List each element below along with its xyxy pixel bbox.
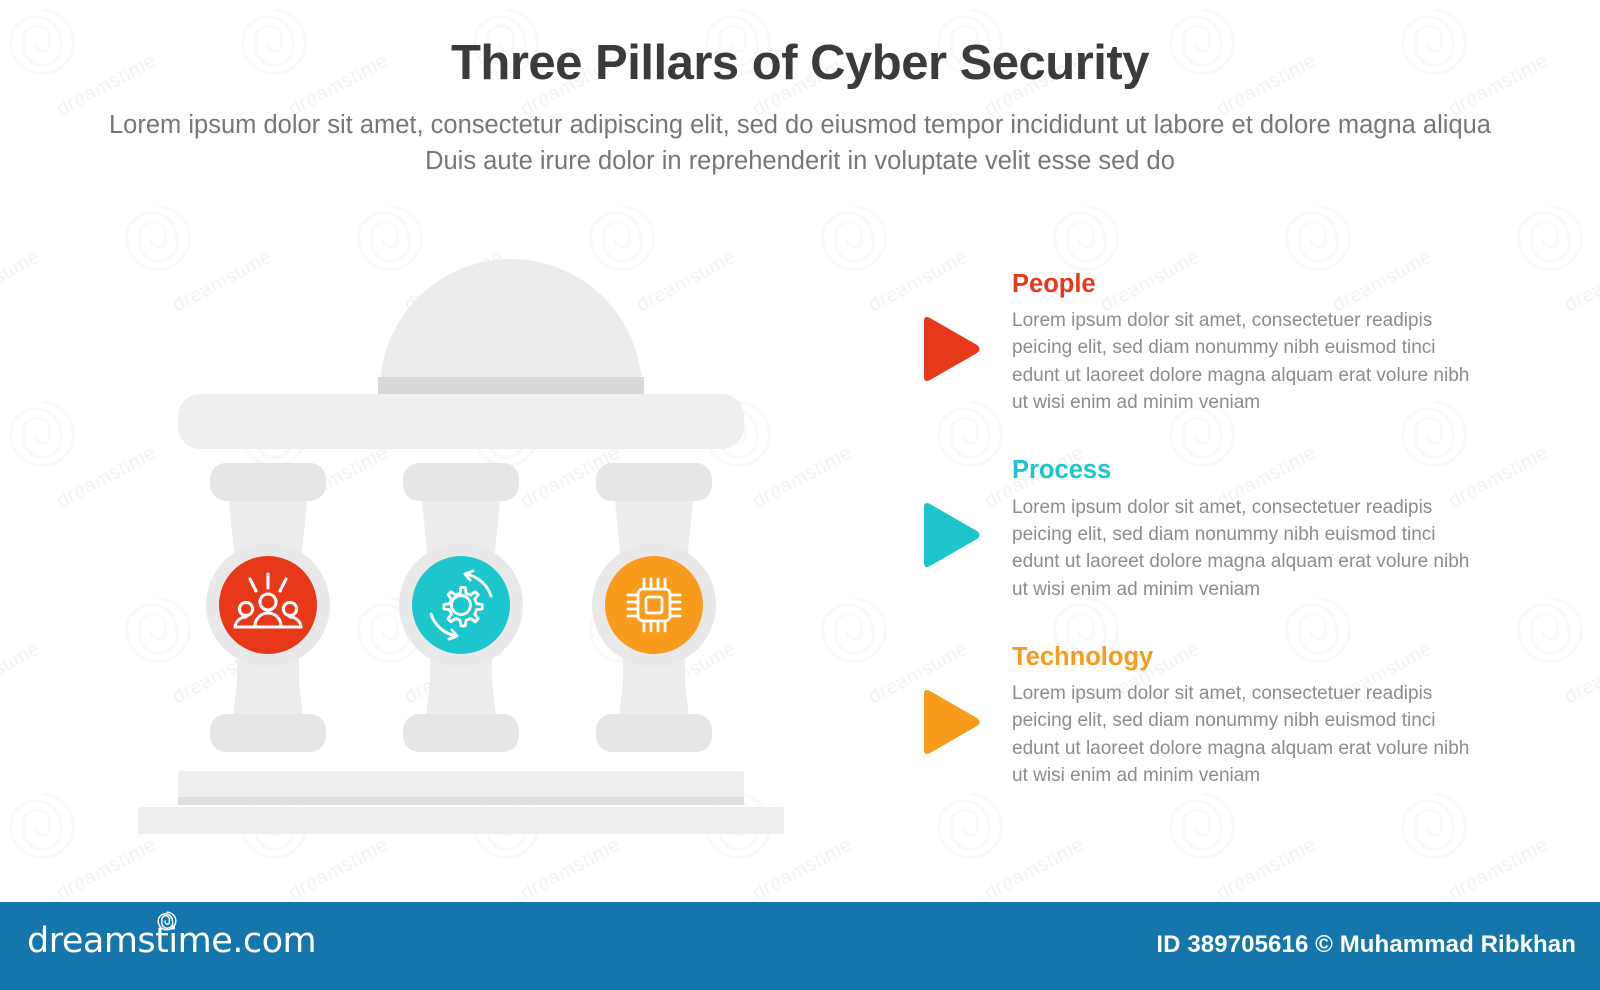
watermark-text: dreamstime xyxy=(285,834,392,906)
icon-disc-technology xyxy=(605,556,703,654)
watermark-spiral-icon xyxy=(928,784,1012,868)
watermark-spiral-icon xyxy=(1508,196,1592,280)
watermark-text: dreamstime xyxy=(1561,638,1600,710)
plinth-lower xyxy=(138,807,784,834)
process-marker xyxy=(884,454,1012,572)
column-base-2 xyxy=(403,714,519,752)
watermark-spiral-icon xyxy=(0,392,84,476)
column-base-3 xyxy=(596,714,712,752)
pillar-title-process: Process xyxy=(1012,456,1484,484)
technology-marker xyxy=(884,641,1012,759)
icon-disc-people xyxy=(219,556,317,654)
footer-bar: dreamstime.com ID 389705616 © Muhammad R… xyxy=(0,902,1600,990)
watermark-text: dreamstime xyxy=(1445,834,1552,906)
header: Three Pillars of Cyber Security Lorem ip… xyxy=(0,0,1600,179)
pillar-desc-process: Lorem ipsum dolor sit amet, consectetuer… xyxy=(1012,494,1472,603)
watermark-spiral-icon xyxy=(0,784,84,868)
capital-3 xyxy=(596,463,712,501)
infographic-page: dreamstimedreamstimedreamstimedreamstime… xyxy=(0,0,1600,990)
pillar-desc-people: Lorem ipsum dolor sit amet, consectetuer… xyxy=(1012,307,1472,416)
capital-2 xyxy=(403,463,519,501)
watermark-text: dreamstime xyxy=(517,834,624,906)
people-marker xyxy=(884,268,1012,386)
dome-icon xyxy=(378,259,644,397)
process-text: Process Lorem ipsum dolor sit amet, cons… xyxy=(1012,454,1484,602)
pillar-title-people: People xyxy=(1012,270,1484,298)
page-subtitle: Lorem ipsum dolor sit amet, consectetur … xyxy=(85,107,1515,179)
pillar-block-people[interactable]: People Lorem ipsum dolor sit amet, conse… xyxy=(884,268,1484,416)
pillar-block-technology[interactable]: Technology Lorem ipsum dolor sit amet, c… xyxy=(884,641,1484,789)
column-base-1 xyxy=(210,714,326,752)
watermark-text: dreamstime xyxy=(749,834,856,906)
play-triangle-icon xyxy=(911,312,985,386)
pillar-block-process[interactable]: Process Lorem ipsum dolor sit amet, cons… xyxy=(884,454,1484,602)
people-text: People Lorem ipsum dolor sit amet, conse… xyxy=(1012,268,1484,416)
watermark-text: dreamstime xyxy=(0,638,44,710)
play-triangle-icon xyxy=(911,685,985,759)
technology-text: Technology Lorem ipsum dolor sit amet, c… xyxy=(1012,641,1484,789)
temple-illustration xyxy=(130,222,792,834)
watermark-text: dreamstime xyxy=(53,834,160,906)
watermark-text: dreamstime xyxy=(1561,246,1600,318)
watermark-spiral-icon xyxy=(1160,784,1244,868)
watermark-text: dreamstime xyxy=(1213,834,1320,906)
icon-disc-process xyxy=(412,556,510,654)
pillar-desc-technology: Lorem ipsum dolor sit amet, consectetuer… xyxy=(1012,680,1472,789)
watermark-text: dreamstime xyxy=(0,246,44,318)
plinth-upper-shadow xyxy=(178,797,744,805)
image-credit: ID 389705616 © Muhammad Ribkhan xyxy=(1156,931,1576,959)
page-title: Three Pillars of Cyber Security xyxy=(0,0,1600,91)
dreamstime-logo[interactable]: dreamstime.com xyxy=(27,924,316,959)
pillars-list: People Lorem ipsum dolor sit amet, conse… xyxy=(884,268,1484,789)
pillar-title-technology: Technology xyxy=(1012,643,1484,671)
watermark-spiral-icon xyxy=(1508,588,1592,672)
play-triangle-icon xyxy=(911,498,985,572)
spiral-logo-icon xyxy=(156,910,178,932)
capital-1 xyxy=(210,463,326,501)
watermark-spiral-icon xyxy=(1392,784,1476,868)
architrave xyxy=(178,394,744,449)
watermark-text: dreamstime xyxy=(981,834,1088,906)
